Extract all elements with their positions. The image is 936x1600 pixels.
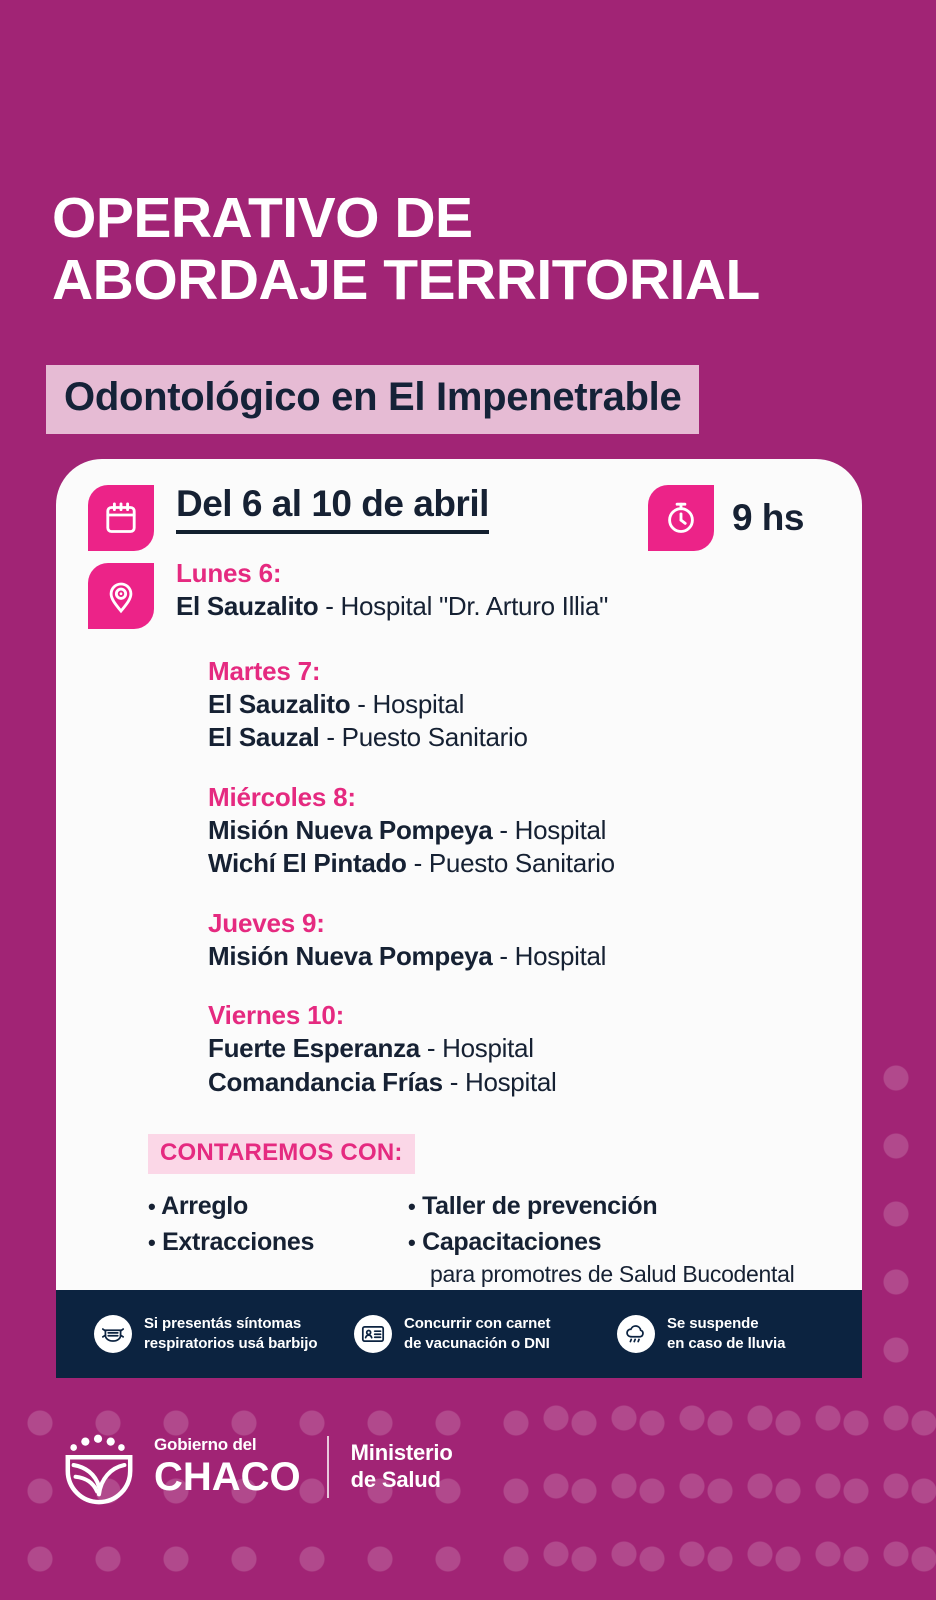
services-column-right: • Taller de prevención • Capacitaciones … <box>408 1188 794 1290</box>
notice-text: Se suspende en caso de lluvia <box>667 1314 785 1354</box>
place-name: Wichí El Pintado <box>208 848 407 878</box>
notice-text: Concurrir con carnet de vacunación o DNI <box>404 1314 550 1354</box>
place-detail: - Puesto Sanitario <box>319 722 527 752</box>
calendar-icon <box>88 485 154 551</box>
schedule-day-label: Jueves 9: <box>208 907 862 940</box>
ministry-wordmark: Ministerio de Salud <box>351 1440 453 1494</box>
government-wordmark: Gobierno del CHACO <box>154 1436 301 1498</box>
schedule-entry-0: Lunes 6: El Sauzalito - Hospital "Dr. Ar… <box>56 557 862 629</box>
place-detail: - Hospital <box>350 689 464 719</box>
schedule-place: El Sauzalito - Hospital "Dr. Arturo Illi… <box>176 590 862 624</box>
services-columns: • Arreglo • Extracciones • Taller de pre… <box>148 1188 862 1290</box>
service-sublabel: para promotres de Salud Bucodental <box>430 1260 794 1290</box>
bullet-icon: • <box>148 1230 155 1255</box>
place-detail: - Hospital <box>420 1033 534 1063</box>
place-name: El Sauzalito <box>176 591 318 621</box>
bullet-icon: • <box>408 1194 415 1219</box>
schedule-place: Comandancia Frías - Hospital <box>208 1066 862 1100</box>
face-mask-icon <box>94 1315 132 1353</box>
service-item: • Taller de prevención <box>408 1188 794 1224</box>
notice-text: Si presentás síntomas respiratorios usá … <box>144 1314 317 1354</box>
place-detail: - Hospital <box>443 1067 557 1097</box>
date-time-row: Del 6 al 10 de abril 9 hs <box>56 459 862 551</box>
poster-subtitle: Odontológico en El Impenetrable <box>46 365 699 434</box>
schedule-place: Fuerte Esperanza - Hospital <box>208 1032 862 1066</box>
schedule-day-label: Viernes 10: <box>208 999 862 1032</box>
schedule-place: Misión Nueva Pompeya - Hospital <box>208 940 862 974</box>
schedule-place: Wichí El Pintado - Puesto Sanitario <box>208 847 862 881</box>
bullet-icon: • <box>408 1230 415 1255</box>
notice-line-1: Concurrir con carnet <box>404 1314 550 1334</box>
info-card: Del 6 al 10 de abril 9 hs <box>56 459 862 1320</box>
notice-item-id-card: Concurrir con carnet de vacunación o DNI <box>354 1314 609 1354</box>
title-line-2: ABORDAJE TERRITORIAL <box>52 250 882 312</box>
place-name: El Sauzalito <box>208 689 350 719</box>
place-detail: - Puesto Sanitario <box>407 848 615 878</box>
schedule-entry-1: Martes 7: El Sauzalito - Hospital El Sau… <box>208 655 862 755</box>
gov-small-text: Gobierno del <box>154 1436 301 1453</box>
place-name: Fuerte Esperanza <box>208 1033 420 1063</box>
place-detail: - Hospital <box>492 815 606 845</box>
time-text: 9 hs <box>732 497 804 539</box>
title-line-1: OPERATIVO DE <box>52 186 473 250</box>
ministry-line-2: de Salud <box>351 1467 453 1494</box>
location-pin-icon <box>88 563 154 629</box>
services-title: CONTAREMOS CON: <box>148 1134 415 1174</box>
notice-line-1: Se suspende <box>667 1314 785 1334</box>
notice-bar: Si presentás síntomas respiratorios usá … <box>56 1290 862 1378</box>
poster-title: OPERATIVO DE ABORDAJE TERRITORIAL <box>52 188 882 311</box>
service-item: • Capacitaciones <box>408 1224 794 1260</box>
services-column-left: • Arreglo • Extracciones <box>148 1188 408 1290</box>
notice-line-1: Si presentás síntomas <box>144 1314 317 1334</box>
service-item: • Arreglo <box>148 1188 408 1224</box>
notice-line-2: en caso de lluvia <box>667 1334 785 1354</box>
schedule-place: Misión Nueva Pompeya - Hospital <box>208 814 862 848</box>
schedule-remaining-entries: Martes 7: El Sauzalito - Hospital El Sau… <box>208 655 862 1100</box>
service-label: Arreglo <box>161 1192 248 1220</box>
service-item: • Extracciones <box>148 1224 408 1260</box>
schedule-place: El Sauzalito - Hospital <box>208 688 862 722</box>
gov-big-text: CHACO <box>154 1456 301 1498</box>
schedule-day-label: Lunes 6: <box>176 557 862 590</box>
notice-line-2: respiratorios usá barbijo <box>144 1334 317 1354</box>
logo-divider <box>327 1436 329 1498</box>
schedule-list: Lunes 6: El Sauzalito - Hospital "Dr. Ar… <box>56 557 862 1100</box>
bullet-icon: • <box>148 1194 155 1219</box>
notice-item-rain: Se suspende en caso de lluvia <box>617 1314 785 1354</box>
schedule-entry-3: Jueves 9: Misión Nueva Pompeya - Hospita… <box>208 907 862 973</box>
service-label: Capacitaciones <box>422 1228 601 1256</box>
place-name: Comandancia Frías <box>208 1067 443 1097</box>
notice-line-2: de vacunación o DNI <box>404 1334 550 1354</box>
schedule-entry-4: Viernes 10: Fuerte Esperanza - Hospital … <box>208 999 862 1099</box>
place-name: Misión Nueva Pompeya <box>208 941 492 971</box>
ministry-line-1: Ministerio <box>351 1440 453 1467</box>
id-card-icon <box>354 1315 392 1353</box>
service-label: Taller de prevención <box>422 1192 657 1220</box>
schedule-day-label: Miércoles 8: <box>208 781 862 814</box>
chaco-leaf-logo-icon <box>60 1428 138 1506</box>
service-label: Extracciones <box>162 1228 314 1256</box>
place-name: El Sauzal <box>208 722 319 752</box>
time-group: 9 hs <box>648 485 862 551</box>
schedule-place: El Sauzal - Puesto Sanitario <box>208 721 862 755</box>
date-range-text: Del 6 al 10 de abril <box>176 485 489 534</box>
schedule-entry-2: Miércoles 8: Misión Nueva Pompeya - Hosp… <box>208 781 862 881</box>
place-detail: - Hospital "Dr. Arturo Illia" <box>318 591 608 621</box>
rain-cloud-icon <box>617 1315 655 1353</box>
schedule-day-label: Martes 7: <box>208 655 862 688</box>
stopwatch-icon <box>648 485 714 551</box>
notice-item-mask: Si presentás síntomas respiratorios usá … <box>94 1314 344 1354</box>
place-name: Misión Nueva Pompeya <box>208 815 492 845</box>
place-detail: - Hospital <box>492 941 606 971</box>
footer-logo-group: Gobierno del CHACO Ministerio de Salud <box>60 1428 453 1506</box>
